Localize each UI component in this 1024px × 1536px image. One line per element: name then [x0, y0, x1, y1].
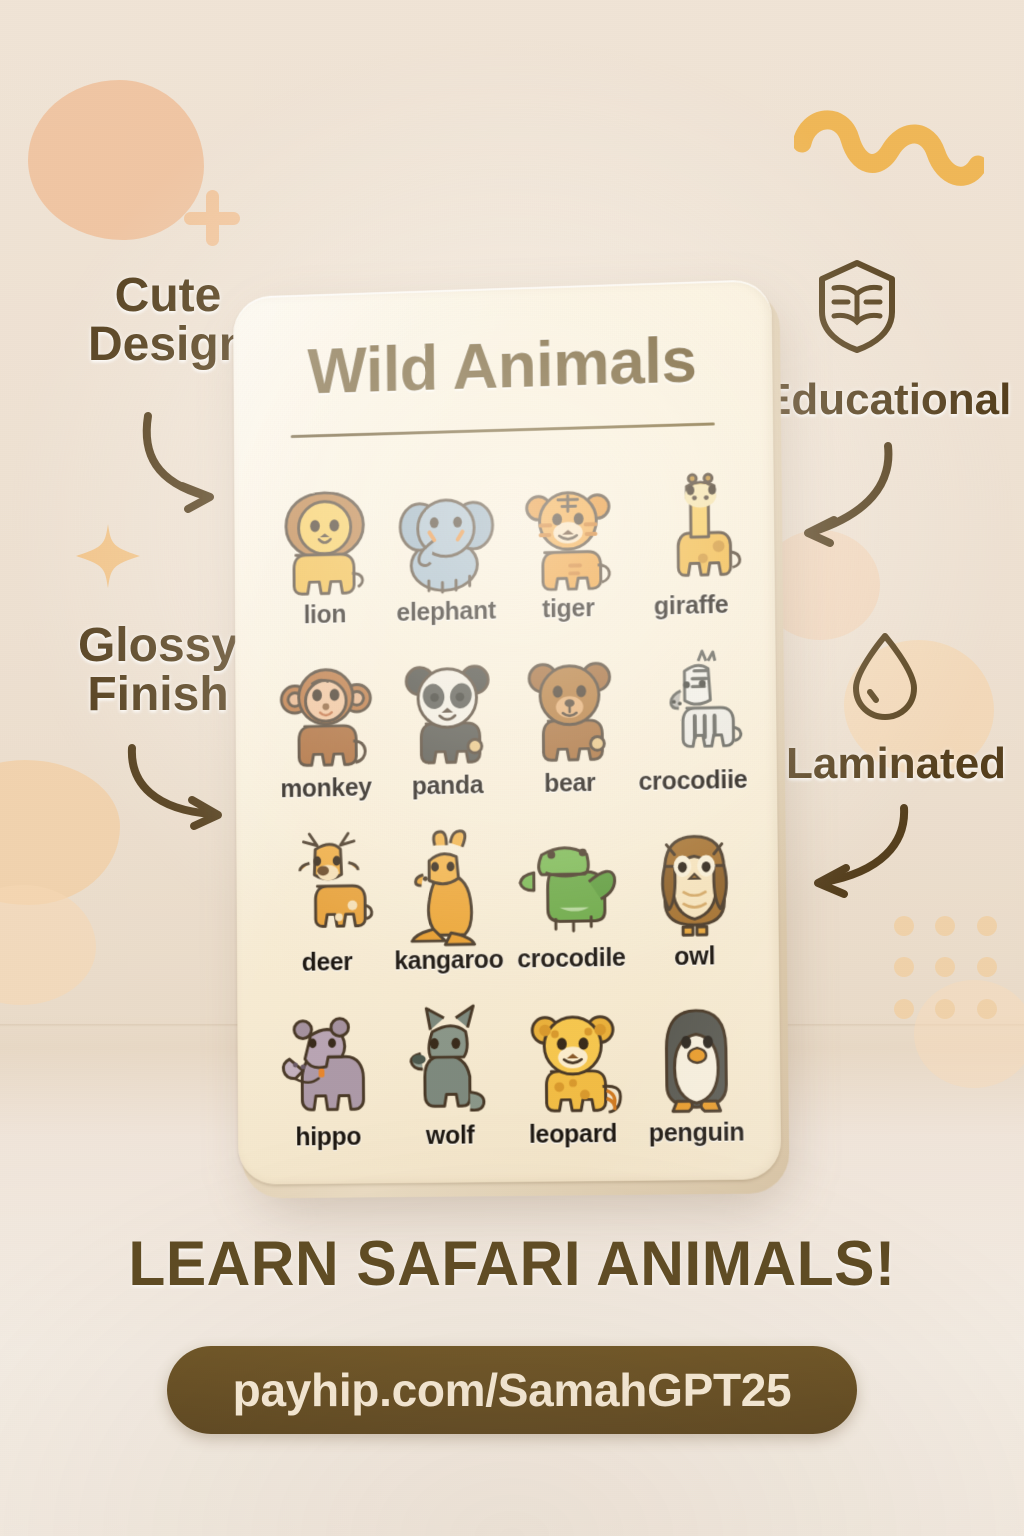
animal-label: kangaroo: [394, 946, 504, 977]
animal-label: tiger: [542, 594, 595, 624]
callout-cute-design-line2: Design: [78, 321, 258, 370]
animal-label: leopard: [529, 1120, 618, 1150]
panda-icon-art: [388, 652, 506, 777]
animal-label: crocodiie: [638, 766, 747, 797]
shield-book-icon: [812, 258, 902, 354]
animal-label: owl: [674, 942, 715, 972]
cta-url-text: payhip.com/SamahGPT25: [233, 1363, 792, 1417]
lion-icon: [266, 482, 383, 607]
water-drop-icon: [848, 630, 922, 722]
animal-cell-owl: owl: [631, 799, 756, 973]
animal-grid: lion elephant: [263, 448, 758, 1153]
animal-cell-penguin: penguin: [633, 975, 759, 1149]
crocodile-icon: [511, 824, 630, 950]
animal-label: hippo: [295, 1123, 361, 1153]
animal-cell-hippo: hippo: [267, 980, 390, 1152]
animal-label: elephant: [396, 597, 496, 628]
animal-cell-monkey: monkey: [265, 632, 387, 804]
callout-cute-design: Cute Design: [78, 272, 258, 370]
wolf-icon-art: [391, 1001, 509, 1126]
zebra-icon-art: [632, 646, 752, 772]
leopard-icon: [513, 1000, 632, 1125]
callout-laminated: Laminated: [786, 742, 1016, 787]
bear-icon: [510, 649, 629, 775]
deer-icon-art: [268, 829, 385, 954]
animal-cell-crocodile: crocodile: [509, 801, 633, 974]
owl-icon-art: [634, 822, 754, 948]
tiger-icon-art: [508, 475, 627, 601]
zebra-icon: [632, 646, 752, 772]
monkey-icon-art: [267, 655, 384, 780]
kangaroo-icon: [389, 826, 507, 951]
giraffe-icon: [631, 471, 750, 597]
callout-cute-design-line1: Cute: [78, 272, 258, 321]
page-title: Wild Animals: [233, 321, 772, 411]
animal-label: panda: [412, 771, 484, 801]
monkey-icon: [267, 655, 384, 780]
callout-educational: Educational: [762, 378, 1012, 423]
panda-icon: [388, 652, 506, 777]
giraffe-icon-art: [631, 471, 750, 597]
marketing-headline: LEARN SAFARI ANIMALS!: [20, 1228, 1003, 1300]
animal-cell-crocodiie: crocodiie: [630, 623, 755, 797]
crocodile-icon-art: [511, 824, 630, 950]
animal-label: penguin: [649, 1118, 745, 1148]
animal-cell-elephant: elephant: [384, 455, 507, 628]
owl-icon: [634, 822, 754, 948]
wolf-icon: [391, 1001, 509, 1126]
animal-label: lion: [303, 601, 346, 631]
animal-cell-deer: deer: [266, 806, 388, 978]
lion-icon-art: [266, 482, 383, 607]
animal-label: wolf: [426, 1121, 475, 1150]
animal-cell-wolf: wolf: [388, 978, 512, 1151]
title-underline-rule: [291, 422, 715, 438]
animal-cell-leopard: leopard: [510, 977, 635, 1150]
cta-url-pill[interactable]: payhip.com/SamahGPT25: [167, 1346, 857, 1434]
bear-icon-art: [510, 649, 629, 775]
callout-glossy-finish: Glossy Finish: [58, 622, 258, 720]
animal-cell-giraffe: giraffe: [628, 448, 753, 622]
penguin-icon-art: [636, 998, 756, 1124]
animal-cell-panda: panda: [385, 629, 508, 802]
tiger-icon: [508, 475, 627, 601]
animal-cell-bear: bear: [507, 626, 631, 799]
deer-icon: [268, 829, 385, 954]
animal-label: giraffe: [654, 591, 729, 622]
animal-cell-kangaroo: kangaroo: [387, 804, 510, 977]
penguin-icon: [636, 998, 756, 1124]
elephant-icon: [387, 478, 505, 603]
elephant-icon-art: [387, 478, 505, 603]
animal-label: bear: [544, 769, 596, 799]
poster-card[interactable]: Wild Animals lion: [233, 279, 789, 1195]
animal-cell-lion: lion: [263, 459, 385, 631]
animal-label: deer: [302, 948, 353, 978]
leopard-icon-art: [513, 1000, 632, 1125]
hippo-icon-art: [269, 1003, 386, 1128]
callout-glossy-finish-line2: Finish: [58, 671, 258, 720]
kangaroo-icon-art: [389, 826, 507, 951]
animal-label: crocodile: [517, 944, 626, 975]
hippo-icon: [269, 1003, 386, 1128]
callout-glossy-finish-line1: Glossy: [58, 622, 258, 671]
animal-label: monkey: [280, 774, 371, 804]
animal-cell-tiger: tiger: [506, 452, 630, 625]
